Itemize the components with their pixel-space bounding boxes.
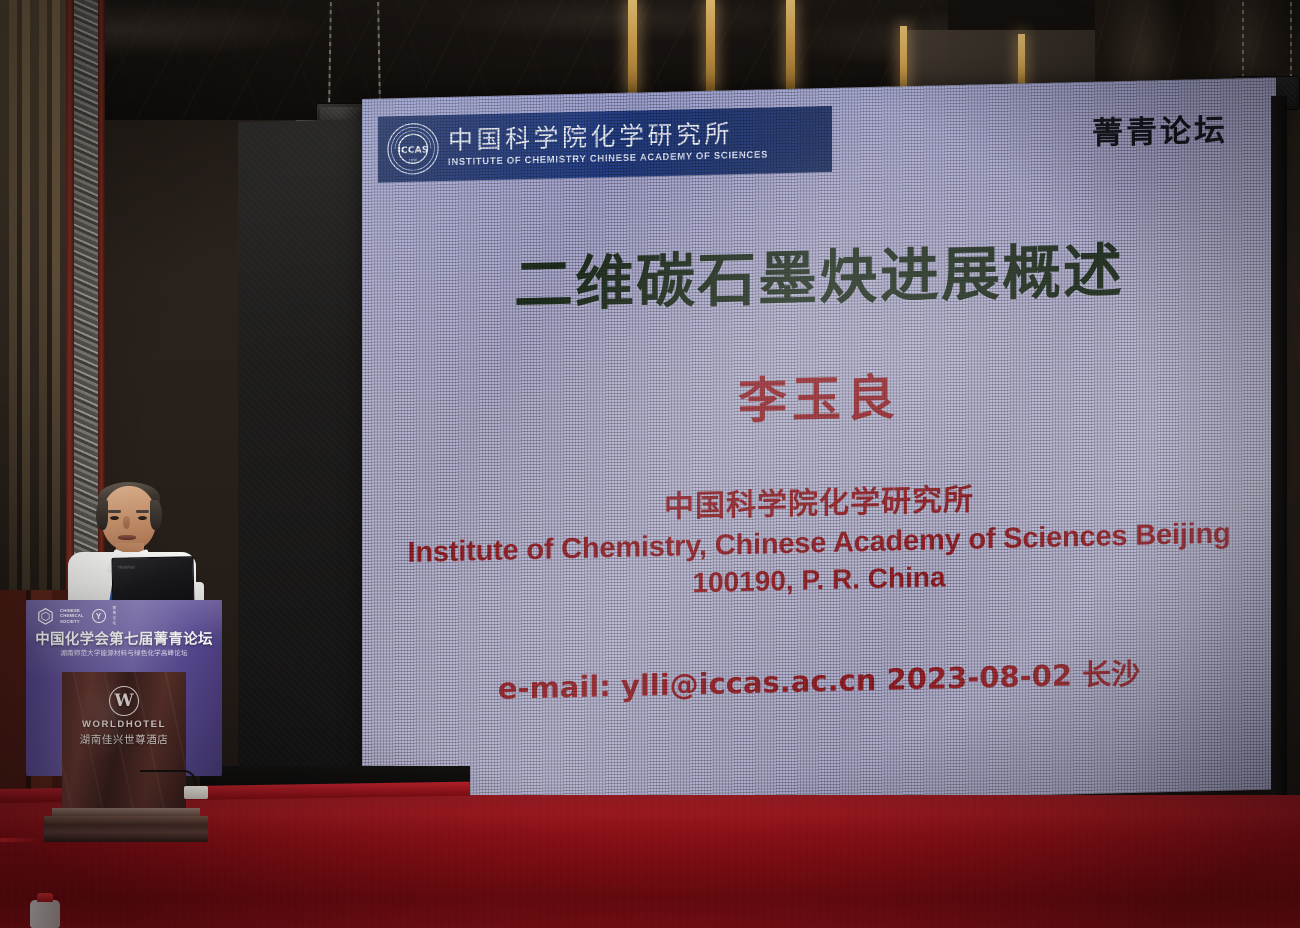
- gold-light-strip-4: [706, 0, 715, 92]
- slide-speaker-name: 李玉良: [362, 349, 1276, 442]
- screen-right-frame: [1271, 96, 1287, 812]
- person-brow-right: [136, 510, 149, 513]
- podium-logo-row: CHINESE CHEMICAL SOCIETY Y 菁青论坛: [38, 606, 118, 626]
- podium-banner-title: 中国化学会第七届菁青论坛: [30, 628, 218, 649]
- left-wood-panels: [0, 0, 66, 600]
- person-brow-left: [108, 510, 121, 513]
- slide-forum-tag: 菁青论坛: [1092, 105, 1228, 153]
- youth-forum-badge-icon: Y: [92, 609, 106, 623]
- slide-title: 二维碳石墨炔进展概述: [362, 219, 1276, 326]
- water-bottle: [30, 900, 60, 928]
- conference-stage-photo: ICCAS 1956 中国科学院化学研究所 INSTITUTE OF CHEMI…: [0, 0, 1300, 928]
- podium-base: [44, 816, 208, 842]
- hotel-name-en: WORLDHOTEL: [70, 719, 178, 730]
- youth-forum-sublabel: 菁青论坛: [113, 606, 118, 626]
- person-eye-left: [110, 516, 119, 520]
- red-floor-cable: [0, 838, 42, 842]
- hotel-monogram-icon: W: [109, 686, 139, 716]
- iccas-seal-icon: ICCAS 1956: [386, 121, 440, 176]
- hotel-name-cn: 湖南佳兴世尊酒店: [70, 732, 178, 747]
- gold-light-strip-3: [628, 0, 637, 96]
- gold-light-strip-5: [786, 0, 795, 90]
- podium-banner-subtitle: 湖南师范大学能源材料与绿色化学高峰论坛: [30, 647, 218, 657]
- led-presentation-screen: ICCAS 1956 中国科学院化学研究所 INSTITUTE OF CHEMI…: [362, 77, 1276, 811]
- chemical-society-hexagon-icon: [38, 608, 53, 625]
- chemical-society-label: CHINESE CHEMICAL SOCIETY: [60, 608, 85, 624]
- person-hair-side-right: [150, 500, 162, 530]
- person-nose: [123, 516, 130, 529]
- water-bottle-cap: [37, 893, 53, 902]
- screen-side-panel: [238, 119, 370, 822]
- svg-text:ICCAS: ICCAS: [397, 145, 428, 156]
- person-eye-right: [138, 516, 147, 520]
- slide-contact-line: e-mail: ylli@iccas.ac.cn 2023-08-02 长沙: [362, 647, 1276, 711]
- podium-power-adapter: [184, 786, 208, 799]
- speaker-chain-right-3: [1290, 2, 1292, 80]
- slide-header-org-cn: 中国科学院化学研究所: [448, 120, 768, 154]
- person-mouth: [118, 535, 136, 540]
- svg-text:1956: 1956: [409, 158, 418, 162]
- slide-header-banner: ICCAS 1956 中国科学院化学研究所 INSTITUTE OF CHEMI…: [378, 106, 832, 183]
- slide-affiliation-block: 中国科学院化学研究所 Institute of Chemistry, Chine…: [362, 474, 1276, 606]
- hotel-branding: W WORLDHOTEL 湖南佳兴世尊酒店: [70, 686, 178, 747]
- person-hair-side-left: [96, 500, 108, 530]
- speaker-chain-right-2: [1242, 2, 1244, 76]
